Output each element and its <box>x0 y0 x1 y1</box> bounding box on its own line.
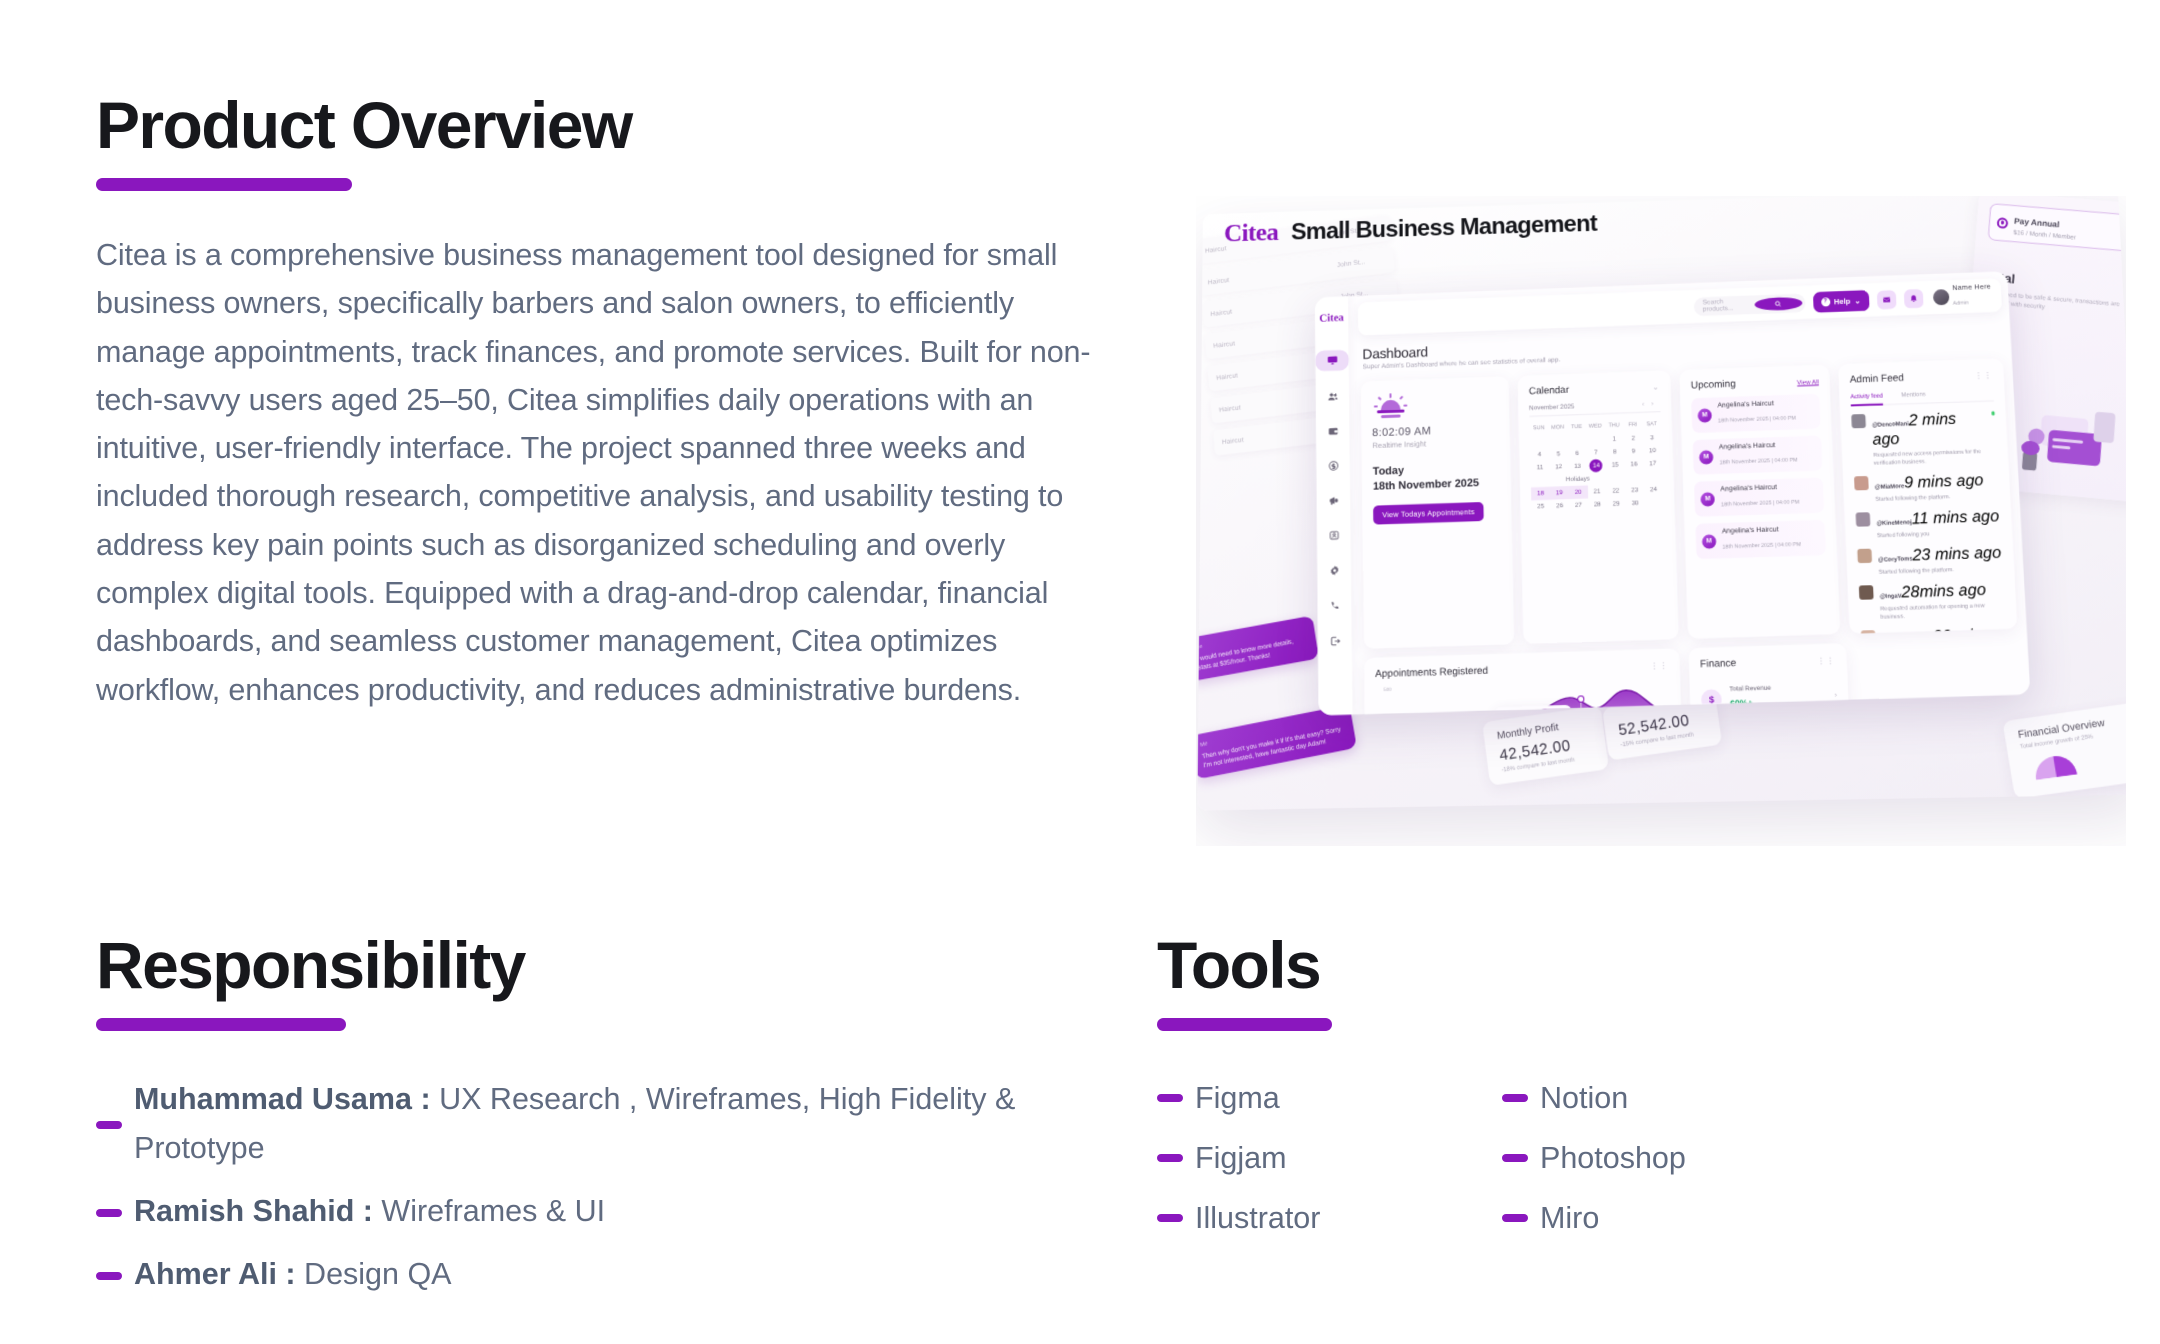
appointment-title: Angelina's Haircut <box>1720 483 1799 493</box>
feed-user: @KineMenoj <box>1876 520 1912 527</box>
today-label: Today <box>1373 462 1500 478</box>
calendar-day[interactable]: 3 <box>1642 431 1661 445</box>
calendar-day[interactable]: 23 <box>1625 484 1644 498</box>
calendar-day[interactable]: 28 <box>1588 498 1607 512</box>
product-overview-section: Product Overview Citea is a comprehensiv… <box>96 92 1126 714</box>
calendar-day[interactable]: 7 <box>1586 446 1605 460</box>
upcoming-header: Upcoming View All <box>1691 376 1819 391</box>
feed-text: Requested automation for opening a new b… <box>1880 601 2006 622</box>
calendar-day[interactable]: 2 <box>1624 432 1643 446</box>
calendar-month-bar: November 2025 ‹› <box>1529 400 1661 417</box>
list-item[interactable]: MAngelina's Haircut18th November 2025 | … <box>1695 520 1826 560</box>
calendar-day[interactable]: 20 <box>1569 485 1588 499</box>
weekday-label: MON <box>1548 421 1567 435</box>
list-item: @KineMenoj11 mins agoStarted following y… <box>1856 508 2002 541</box>
slide-root: Product Overview Citea is a comprehensiv… <box>0 0 2160 1344</box>
responsibility-list: Muhammad Usama : UX Research , Wireframe… <box>96 1075 1156 1299</box>
list-item: Ahmer Ali : Design QA <box>96 1250 1156 1299</box>
list-item: Notion <box>1502 1075 1957 1121</box>
feed-time: 23 mins ago <box>1912 544 2002 564</box>
avatar <box>1856 512 1871 527</box>
revenue-label: Total Revenue <box>1729 685 1771 693</box>
pay-annual-sub: $16 / Month / Member <box>2013 229 2076 241</box>
tool-label: Miro <box>1540 1195 1599 1241</box>
feed-text: Started following the platform. <box>1875 491 1999 504</box>
payment-illustration-icon <box>2007 386 2126 493</box>
upcoming-title: Upcoming <box>1691 379 1736 391</box>
view-all-link[interactable]: View All <box>1797 379 1819 387</box>
list-item: Photoshop <box>1502 1135 1957 1181</box>
list-item: Figma <box>1157 1075 1502 1121</box>
citea-logo: Citea <box>1224 218 1279 248</box>
avatar: M <box>1700 492 1715 507</box>
calendar-day[interactable]: 13 <box>1568 460 1587 474</box>
feed-time: 9 mins ago <box>1904 472 1984 492</box>
sidebar-logo: Citea <box>1319 312 1344 325</box>
feed-text: Requested new access permissions for the… <box>1873 447 1988 468</box>
tool-label: Figjam <box>1195 1135 1287 1181</box>
list-item: Figjam <box>1157 1135 1502 1181</box>
calendar-day[interactable]: 6 <box>1568 447 1587 461</box>
weekday-label: THU <box>1604 419 1623 433</box>
financial-overview-card: Financial Overview Total income growth o… <box>2002 701 2126 799</box>
calendar-day[interactable]: 24 <box>1644 483 1663 497</box>
appointment-title: Angelina's Haircut <box>1717 399 1795 409</box>
calendar-card: Calendar ⌄ November 2025 ‹› SUN MON TUE <box>1518 370 1679 644</box>
mockup-brand-header: Citea Small Business Management <box>1224 209 1597 249</box>
list-item: @HouseHoloJohn33 mins agoStarted followi… <box>1861 626 2009 634</box>
title-underline <box>96 178 352 191</box>
sidebar-item-users[interactable] <box>1319 387 1347 406</box>
calendar-day[interactable]: 26 <box>1550 499 1569 513</box>
tool-label: Figma <box>1195 1075 1280 1121</box>
today-date: 18th November 2025 <box>1373 476 1500 492</box>
appointment-meta: 18th November 2025 | 04:00 PM <box>1722 542 1801 551</box>
tools-list: Figma Notion Figjam Photoshop Illustrato… <box>1157 1075 1957 1241</box>
help-button[interactable]: ? Help ⌄ <box>1813 290 1870 313</box>
monthly-profit-card: Monthly Profit 42,542.00 -18% compare to… <box>1482 705 1609 785</box>
appointments-chart-card: Appointments Registered ⋮⋮ 500 400 300 2… <box>1364 648 1685 715</box>
pay-annual-title: Pay Annual <box>2014 216 2060 229</box>
person-name: Muhammad Usama : <box>134 1082 431 1116</box>
list-item: Miro <box>1502 1195 1957 1241</box>
responsibility-entry: Muhammad Usama : UX Research , Wireframe… <box>134 1075 1074 1173</box>
bell-icon[interactable] <box>1903 289 1923 308</box>
person-role: Design QA <box>296 1257 452 1291</box>
calendar-day[interactable]: 16 <box>1624 458 1643 472</box>
tools-title: Tools <box>1157 932 1957 998</box>
mail-icon[interactable] <box>1876 290 1896 309</box>
admin-feed-header: Admin Feed ⋮⋮ <box>1850 370 1993 386</box>
calendar-day[interactable]: 22 <box>1606 484 1625 498</box>
calendar-day[interactable]: 1 <box>1605 432 1624 446</box>
dashboard-window: Citea <box>1315 271 2031 715</box>
chat-bubble: Me I would need to know more details, st… <box>1197 615 1319 681</box>
tool-label: Notion <box>1540 1075 1628 1121</box>
responsibility-title: Responsibility <box>96 932 1156 998</box>
responsibility-entry: Ahmer Ali : Design QA <box>134 1250 452 1299</box>
calendar-header: Calendar ⌄ <box>1529 382 1660 398</box>
calendar-day[interactable]: 5 <box>1549 447 1568 461</box>
person-name: Ramish Shahid : <box>134 1194 373 1228</box>
total-revenue-row[interactable]: $ Total Revenue 60%+ › <box>1701 683 1838 713</box>
more-options-icon[interactable]: ⋮⋮ <box>1650 661 1669 671</box>
weekday-label: FRI <box>1623 419 1642 433</box>
feed-time: 2 mins ago <box>1872 411 1956 449</box>
list-item: Ramish Shahid : Wireframes & UI <box>96 1187 1156 1236</box>
lamp-icon <box>1374 393 1408 420</box>
realtime-card: 8:02:09 AM Realtime Insight Today 18th N… <box>1361 376 1515 649</box>
upcoming-card: Upcoming View All MAngelina's Haircut18t… <box>1679 365 1840 639</box>
calendar-nav-icons[interactable]: ‹› <box>1642 400 1660 408</box>
sidebar-item-dashboard[interactable] <box>1315 350 1349 372</box>
search-input[interactable]: Search products... <box>1693 293 1805 316</box>
sidebar-item-settings[interactable] <box>1320 561 1348 580</box>
list-item[interactable]: MAngelina's Haircut18th November 2025 | … <box>1693 435 1823 474</box>
sidebar-item-wallet[interactable] <box>1319 421 1347 440</box>
avatar <box>1854 476 1869 491</box>
calendar-day[interactable]: 17 <box>1643 457 1662 471</box>
dash-bullet-icon <box>96 1209 122 1217</box>
pay-annual-option: Pay Annual $16 / Month / Member <box>1988 203 2126 253</box>
list-item: Illustrator <box>1157 1195 1502 1241</box>
dash-bullet-icon <box>96 1272 122 1280</box>
chevron-down-icon[interactable]: ⌄ <box>1652 383 1660 392</box>
list-item: @IngaV28mins agoRequested automation for… <box>1859 581 2006 623</box>
admin-feed-title: Admin Feed <box>1850 373 1905 386</box>
more-options-icon[interactable]: ⋮⋮ <box>1974 371 1993 381</box>
appointment-meta: 18th November 2025 | 04:00 PM <box>1721 499 1800 508</box>
user-menu[interactable]: Name Here Admin <box>1932 283 1992 310</box>
sidebar-item-finance[interactable] <box>1319 456 1347 475</box>
calendar-day[interactable]: 29 <box>1607 497 1626 511</box>
list-item: @CoryToms23 mins agoStarted following th… <box>1857 544 2003 577</box>
list-item[interactable]: MAngelina's Haircut18th November 2025 | … <box>1691 394 1820 433</box>
person-role: Wireframes & UI <box>373 1194 605 1228</box>
calendar-day[interactable] <box>1530 435 1549 449</box>
feed-user: @MiaMore <box>1875 484 1905 491</box>
user-role: Admin <box>1953 300 1969 306</box>
dashboard-content: Search products... ? Help ⌄ <box>1348 271 2030 714</box>
finance-title: Finance <box>1700 658 1737 670</box>
calendar-day[interactable]: 27 <box>1569 498 1588 512</box>
weekday-label: WED <box>1586 420 1605 434</box>
dash-bullet-icon <box>1157 1214 1183 1222</box>
dashboard-sidebar: Citea <box>1315 296 1353 715</box>
calendar-day[interactable]: 10 <box>1643 444 1662 458</box>
search-placeholder: Search products... <box>1702 298 1750 313</box>
chart-title: Appointments Registered <box>1375 665 1488 680</box>
finance-header: Finance ⋮⋮ <box>1700 655 1836 670</box>
avatar: M <box>1698 408 1712 422</box>
clock-label: Realtime Insight <box>1372 437 1499 450</box>
user-name: Name Here <box>1952 283 1991 291</box>
help-label: Help <box>1834 296 1851 305</box>
feed-user: @IngaV <box>1880 593 1902 600</box>
search-icon[interactable] <box>1755 296 1803 311</box>
avatar <box>1851 414 1866 428</box>
feed-time: 33 mins ago <box>1882 627 1991 634</box>
radio-icon <box>1997 217 2009 229</box>
dash-bullet-icon <box>1157 1094 1183 1102</box>
calendar-grid: SUN MON TUE WED THU FRI SAT <box>1529 418 1663 513</box>
overview-paragraph: Citea is a comprehensive business manage… <box>96 231 1106 714</box>
appointment-title: Angelina's Haircut <box>1722 526 1801 536</box>
calendar-day[interactable]: 4 <box>1530 448 1549 462</box>
responsibility-entry: Ramish Shahid : Wireframes & UI <box>134 1187 605 1236</box>
list-item: Muhammad Usama : UX Research , Wireframe… <box>96 1075 1156 1173</box>
calendar-day[interactable]: 8 <box>1605 445 1624 459</box>
responsibility-underline <box>96 1018 346 1031</box>
avatar: M <box>1702 534 1717 549</box>
y-tick: 500 <box>1383 688 1391 693</box>
product-mockup: Haircut Haircut Haircut Haircut Haircut … <box>1196 196 2126 846</box>
list-item[interactable]: MAngelina's Haircut18th November 2025 | … <box>1694 477 1824 516</box>
sidebar-item-cards[interactable] <box>1320 526 1348 545</box>
page-title: Product Overview <box>96 92 1126 158</box>
feed-time: 28mins ago <box>1901 582 1986 602</box>
feed-user: @CoryToms <box>1878 556 1913 563</box>
chart-y-axis: 500 400 300 200 100 <box>1375 688 1395 716</box>
chat-bubble: Me Then why don't you make it if it's th… <box>1197 704 1357 779</box>
sidebar-item-marketing[interactable] <box>1320 491 1348 510</box>
mockup-plane: Haircut Haircut Haircut Haircut Haircut … <box>1197 196 2126 811</box>
dash-bullet-icon <box>96 1121 122 1129</box>
list-item: @MiaMore9 mins agoStarted following the … <box>1854 472 1999 505</box>
admin-feed-tabs: Activity feed Mentions <box>1850 389 1994 406</box>
chart-header: Appointments Registered ⋮⋮ <box>1375 660 1669 680</box>
appointment-meta: 18th November 2025 | 04:00 PM <box>1718 415 1796 424</box>
feed-time: 11 mins ago <box>1911 508 1999 528</box>
calendar-title: Calendar <box>1529 385 1570 397</box>
chevron-right-icon[interactable]: › <box>1834 692 1837 699</box>
calendar-month: November 2025 <box>1529 403 1574 412</box>
weekday-label: SUN <box>1529 422 1548 436</box>
dash-bullet-icon <box>1502 1214 1528 1222</box>
weekday-label: SAT <box>1642 418 1661 432</box>
avatar <box>1932 289 1949 305</box>
tab-mentions[interactable]: Mentions <box>1901 392 1926 399</box>
feed-user: @DencoMani <box>1872 421 1909 428</box>
sidebar-item-support[interactable] <box>1320 596 1348 615</box>
tab-activity-feed[interactable]: Activity feed <box>1850 393 1883 400</box>
responsibility-section: Responsibility Muhammad Usama : UX Resea… <box>96 932 1156 1313</box>
feed-text: Started following you <box>1877 528 2001 541</box>
appointment-meta: 18th November 2025 | 04:00 PM <box>1719 457 1797 466</box>
tool-label: Illustrator <box>1195 1195 1320 1241</box>
tool-label: Photoshop <box>1540 1135 1686 1181</box>
view-appointments-button[interactable]: View Todays Appointments <box>1373 502 1484 525</box>
dash-bullet-icon <box>1502 1094 1528 1102</box>
avatar: M <box>1699 450 1714 464</box>
calendar-day[interactable]: 9 <box>1624 445 1643 459</box>
calendar-day[interactable]: 11 <box>1530 461 1549 475</box>
avatar <box>1861 630 1876 634</box>
dashboard-row-top: 8:02:09 AM Realtime Insight Today 18th N… <box>1359 358 2020 649</box>
calendar-day[interactable]: 15 <box>1606 458 1625 472</box>
feed-text: Started following the platform. <box>1878 564 2003 577</box>
calendar-day[interactable]: 19 <box>1550 486 1569 500</box>
calendar-day[interactable]: 12 <box>1549 460 1568 474</box>
donut-chart-icon <box>2021 746 2087 782</box>
more-options-icon[interactable]: ⋮⋮ <box>1817 656 1836 666</box>
dashboard-row-bottom: Appointments Registered ⋮⋮ 500 400 300 2… <box>1362 638 2030 716</box>
avatar <box>1857 549 1872 564</box>
avatar <box>1859 585 1874 600</box>
mockup-headline: Small Business Management <box>1291 210 1597 246</box>
help-icon: ? <box>1821 297 1830 306</box>
admin-feed-card: Admin Feed ⋮⋮ Activity feed Mentions @De… <box>1838 358 2018 634</box>
calendar-day[interactable] <box>1586 433 1605 447</box>
tools-underline <box>1157 1018 1332 1031</box>
calendar-day[interactable]: 25 <box>1531 500 1550 514</box>
appointment-title: Angelina's Haircut <box>1719 441 1797 451</box>
calendar-day[interactable]: 30 <box>1626 497 1645 511</box>
person-name: Ahmer Ali : <box>134 1257 296 1291</box>
calendar-day[interactable]: 21 <box>1587 485 1606 499</box>
weekday-label: TUE <box>1567 421 1586 435</box>
dash-bullet-icon <box>1502 1154 1528 1162</box>
revenue-value: 60%+ <box>1730 698 1753 709</box>
calendar-day-selected[interactable]: 14 <box>1590 459 1603 472</box>
sidebar-item-logout[interactable] <box>1321 631 1349 650</box>
list-item: @DencoMani2 mins agoRequested new access… <box>1851 409 1997 468</box>
dash-bullet-icon <box>1157 1154 1183 1162</box>
tools-section: Tools Figma Notion Figjam Photoshop Illu… <box>1157 932 1957 1241</box>
calendar-day[interactable]: 18 <box>1531 487 1550 501</box>
chevron-down-icon: ⌄ <box>1854 296 1861 305</box>
calendar-day[interactable] <box>1567 434 1586 448</box>
calendar-day[interactable] <box>1549 434 1568 448</box>
status-badge <box>1991 411 1995 415</box>
